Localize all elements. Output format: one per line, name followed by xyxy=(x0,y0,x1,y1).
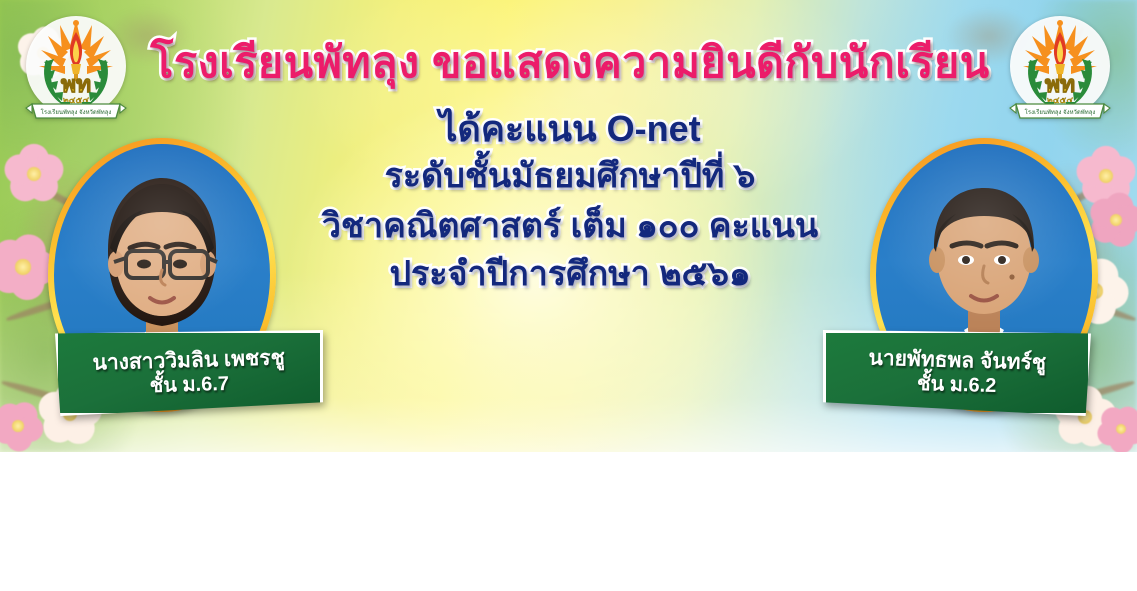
blossom-icon xyxy=(8,148,60,200)
blossom-icon xyxy=(1092,196,1137,244)
student-class-right: ชั้น ม.6.2 xyxy=(917,372,997,398)
page-title: โรงเรียนพัทลุง ขอแสดงความยินดีกับนักเรีย… xyxy=(150,42,990,85)
student-nameplate-left: นางสาววิมลิน เพชรชู ชั้น ม.6.7 xyxy=(55,330,323,416)
svg-text:พท: พท xyxy=(1045,71,1075,97)
student-name-right: นายพัทธพล จันทร์ชู xyxy=(868,346,1046,376)
congratulations-banner: พท ๒๔๕๔ โรงเรียนพัทลุง จังหวัดพัท xyxy=(0,0,1137,452)
blossom-icon xyxy=(0,404,40,448)
blossom-icon xyxy=(1100,408,1137,450)
svg-text:โรงเรียนพัทลุง จังหวัดพัทลุง: โรงเรียนพัทลุง จังหวัดพัทลุง xyxy=(1025,108,1096,116)
student-class-left: ชั้น ม.6.7 xyxy=(149,372,229,398)
subtitle-grade-level: ระดับชั้นมัธยมศึกษาปีที่ ๖ xyxy=(150,159,990,193)
headline-block: โรงเรียนพัทลุง ขอแสดงความยินดีกับนักเรีย… xyxy=(150,42,990,291)
subtitle-academic-year: ประจำปีการศึกษา ๒๕๖๑ xyxy=(150,257,990,291)
page-whitespace xyxy=(0,452,1137,591)
school-emblem-icon-left: พท ๒๔๕๔ โรงเรียนพัทลุง จังหวัดพัท xyxy=(24,12,128,124)
subtitle-onet: ได้คะแนน O-net xyxy=(150,111,990,147)
svg-text:โรงเรียนพัทลุง จังหวัดพัทลุง: โรงเรียนพัทลุง จังหวัดพัทลุง xyxy=(41,108,112,116)
school-emblem-icon-right: พท ๒๔๕๔ โรงเรียนพัทลุง จังหวัดพัทลุง xyxy=(1008,12,1112,124)
svg-text:พท: พท xyxy=(61,71,91,97)
student-name-left: นางสาววิมลิน เพชรชู xyxy=(92,346,285,376)
student-nameplate-right: นายพัทธพล จันทร์ชู ชั้น ม.6.2 xyxy=(823,330,1091,416)
subtitle-subject-score: วิชาคณิตศาสตร์ เต็ม ๑๐๐ คะแนน xyxy=(150,209,990,243)
